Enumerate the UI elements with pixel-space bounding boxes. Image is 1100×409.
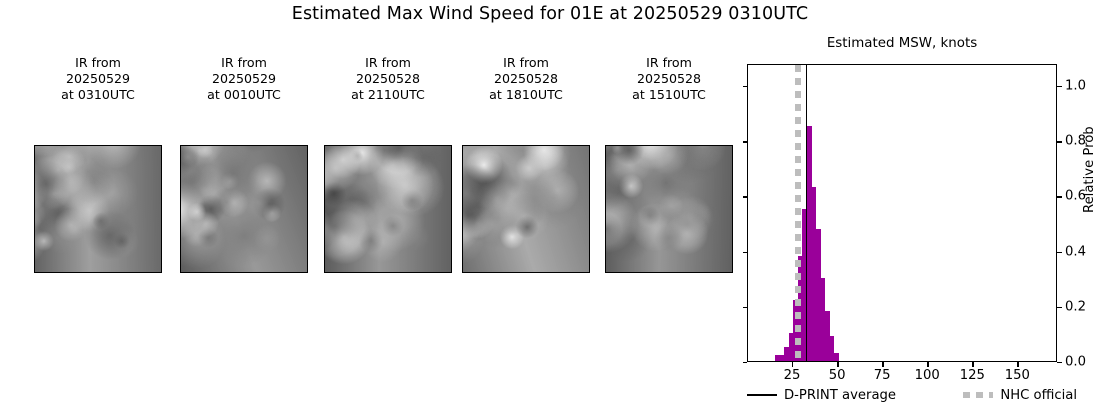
y-axis-tick-left <box>743 196 748 197</box>
ir-satellite-image <box>180 145 308 273</box>
solid-line-icon <box>747 394 777 396</box>
x-axis-tick-label: 150 <box>1005 368 1030 383</box>
ir-cloud-field <box>605 145 733 273</box>
x-axis-tick-label: 50 <box>829 368 846 383</box>
ir-satellite-image <box>34 145 162 273</box>
ir-panel-caption: IR from 20250529 at 0310UTC <box>27 55 169 104</box>
legend-entry-nhc-official: NHC official <box>963 388 1077 403</box>
x-axis-tick-label: 125 <box>960 368 985 383</box>
x-axis-tick <box>882 362 883 367</box>
x-axis-tick-label: 100 <box>915 368 940 383</box>
histogram-bar <box>834 353 839 361</box>
y-axis-tick-left <box>743 141 748 142</box>
ir-satellite-image <box>605 145 733 273</box>
ir-satellite-image <box>324 145 452 273</box>
y-axis-tick-label: 0.4 <box>1065 244 1086 259</box>
y-axis-tick-left <box>743 86 748 87</box>
x-axis-tick <box>837 362 838 367</box>
ir-cloud-field <box>462 145 590 273</box>
dashed-line-icon <box>963 392 993 398</box>
legend-label-dprint-average: D-PRINT average <box>784 388 896 403</box>
page-title: Estimated Max Wind Speed for 01E at 2025… <box>0 4 1100 24</box>
y-axis-tick <box>1057 86 1062 87</box>
y-axis-tick-label: 1.0 <box>1065 79 1086 94</box>
legend-entry-dprint-average: D-PRINT average <box>747 388 896 403</box>
y-axis-tick-left <box>743 362 748 363</box>
y-axis-tick-left <box>743 252 748 253</box>
y-axis-tick-label: 0.2 <box>1065 299 1086 314</box>
ir-panel-20250528-1810utc: IR from 20250528 at 1810UTC <box>455 55 597 104</box>
y-axis-label: Relative Prob <box>1082 126 1097 213</box>
ir-panel-caption: IR from 20250528 at 1810UTC <box>455 55 597 104</box>
y-axis-tick <box>1057 252 1062 253</box>
x-axis-tick-label: 25 <box>784 368 801 383</box>
y-axis-tick-label: 0.0 <box>1065 355 1086 370</box>
x-axis-tick-label: 75 <box>874 368 891 383</box>
x-axis-tick <box>927 362 928 367</box>
y-axis-tick <box>1057 307 1062 308</box>
ir-panel-20250529-0310utc: IR from 20250529 at 0310UTC <box>27 55 169 104</box>
ir-panel-20250529-0010utc: IR from 20250529 at 0010UTC <box>173 55 315 104</box>
ir-panel-caption: IR from 20250529 at 0010UTC <box>173 55 315 104</box>
ir-panel-20250528-2110utc: IR from 20250528 at 2110UTC <box>317 55 459 104</box>
dprint-average-line <box>806 65 808 361</box>
ir-cloud-field <box>34 145 162 273</box>
histogram-panel: 2550751001251500.00.20.40.60.81.0 <box>747 64 1057 362</box>
histogram-title: Estimated MSW, knots <box>747 36 1057 51</box>
y-axis-tick <box>1057 362 1062 363</box>
ir-panel-caption: IR from 20250528 at 1510UTC <box>598 55 740 104</box>
ir-panel-caption: IR from 20250528 at 2110UTC <box>317 55 459 104</box>
ir-cloud-field <box>180 145 308 273</box>
chart-legend: D-PRINT average NHC official <box>747 385 1077 405</box>
histogram-plot-area <box>747 64 1057 362</box>
nhc-official-line <box>795 65 801 361</box>
y-axis-tick <box>1057 141 1062 142</box>
legend-label-nhc-official: NHC official <box>1000 388 1077 403</box>
y-axis-tick <box>1057 196 1062 197</box>
x-axis-tick <box>972 362 973 367</box>
ir-panel-strip: IR from 20250529 at 0310UTCIR from 20250… <box>0 55 740 285</box>
ir-satellite-image <box>462 145 590 273</box>
ir-cloud-field <box>324 145 452 273</box>
ir-panel-20250528-1510utc: IR from 20250528 at 1510UTC <box>598 55 740 104</box>
x-axis-tick <box>792 362 793 367</box>
y-axis-tick-left <box>743 307 748 308</box>
x-axis-tick <box>1017 362 1018 367</box>
